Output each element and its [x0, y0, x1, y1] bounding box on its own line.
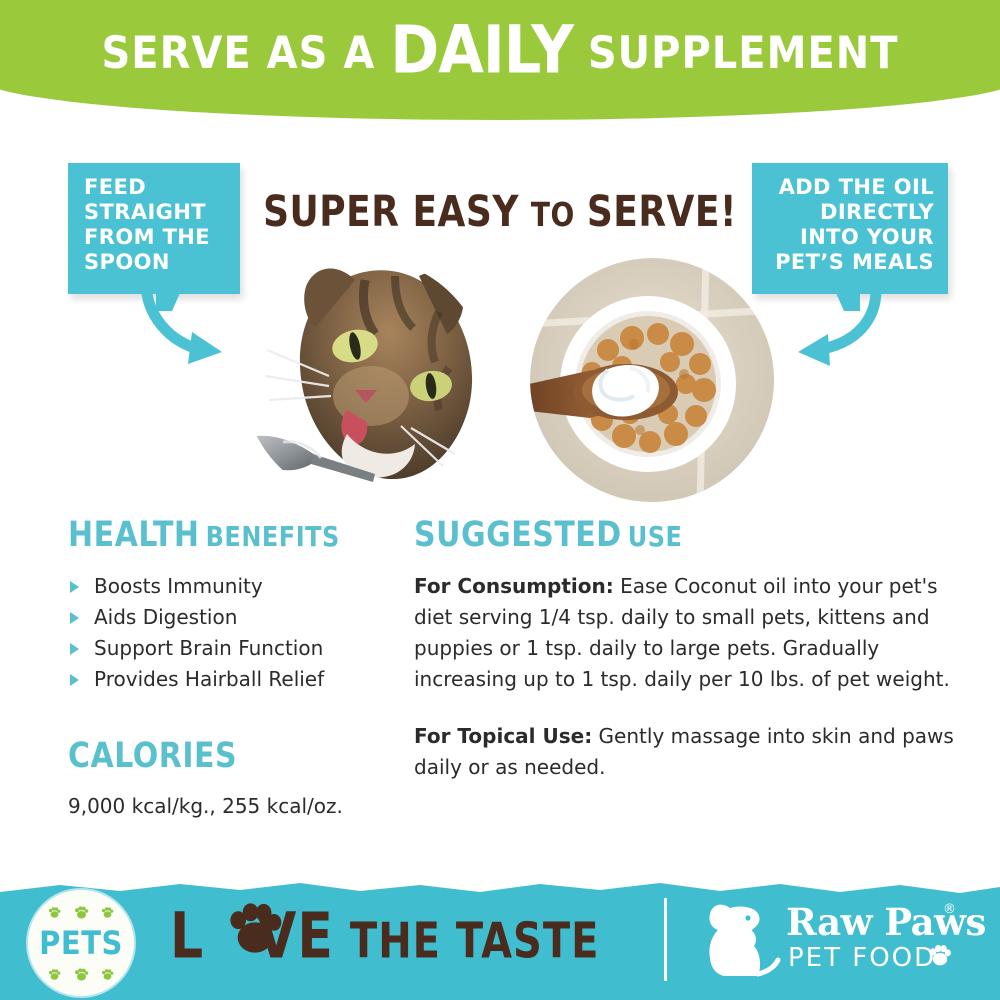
health-heading-big: HEALTH — [68, 515, 200, 555]
callout-right-tail — [836, 293, 860, 311]
love-paw-icon — [227, 900, 283, 956]
suggested-heading-big: SUGGESTED — [414, 515, 622, 555]
title-part1: SERVE AS A — [101, 28, 375, 80]
topical-paragraph: For Topical Use: Gently massage into ski… — [414, 721, 954, 783]
topical-label: For Topical Use: — [414, 724, 592, 748]
list-item: Support Brain Function — [68, 633, 398, 664]
paw-icon — [74, 905, 89, 920]
headline-part3: SERVE! — [587, 188, 737, 236]
benefit-label: Provides Hairball Relief — [94, 667, 324, 691]
bullet-triangle-icon — [70, 581, 79, 593]
badge-paws-top — [28, 904, 134, 922]
headline-part1: SUPER EASY — [263, 188, 519, 236]
suggested-heading-small: USE — [628, 521, 683, 553]
footer-torn-edge — [0, 879, 1000, 895]
consumption-label: For Consumption: — [414, 574, 614, 598]
brand-paw-icon — [928, 943, 952, 967]
list-item: Provides Hairball Relief — [68, 664, 398, 695]
pets-badge: PETS — [28, 890, 134, 996]
arrow-right-icon — [760, 288, 890, 374]
health-benefits-heading: HEALTH BENEFITS — [68, 515, 398, 555]
brand-subtitle: PET FOOD — [788, 943, 936, 973]
paw-icon — [101, 968, 114, 981]
calories-heading: CALORIES — [68, 736, 398, 776]
taste-word: THE TASTE — [350, 913, 600, 969]
photo-food-bowl — [530, 258, 775, 503]
title-part2: SUPPLEMENT — [588, 28, 899, 80]
benefit-label: Boosts Immunity — [94, 574, 263, 598]
photo-cat-with-spoon — [243, 258, 488, 503]
callout-right-line-4: PET’S MEALS — [768, 250, 934, 275]
list-item: Boosts Immunity — [68, 571, 398, 602]
pets-badge-label: PETS — [28, 924, 134, 961]
love-word-l: L — [170, 900, 204, 973]
bullet-triangle-icon — [70, 643, 79, 655]
title-emphasis: DAILY — [390, 11, 573, 88]
bullet-triangle-icon — [70, 674, 79, 686]
consumption-paragraph: For Consumption: Ease Coconut oil into y… — [414, 571, 954, 695]
callout-left-line-4: SPOON — [84, 250, 226, 275]
paw-icon — [101, 906, 114, 919]
calories-value: 9,000 kcal/kg., 255 kcal/oz. — [68, 792, 398, 820]
infographic-page: SERVE AS A DAILY SUPPLEMENT FEED STRAIGH… — [0, 0, 1000, 1000]
calories-heading-text: CALORIES — [68, 736, 237, 776]
brand-registered-mark: ® — [943, 902, 956, 917]
health-benefits-list: Boosts Immunity Aids Digestion Support B… — [68, 571, 398, 695]
page-title: SERVE AS A DAILY SUPPLEMENT — [0, 11, 1000, 88]
calories-section: CALORIES 9,000 kcal/kg., 255 kcal/oz. — [68, 741, 398, 820]
header-banner: SERVE AS A DAILY SUPPLEMENT — [0, 0, 1000, 120]
bowl-illustration — [530, 258, 775, 503]
benefit-label: Support Brain Function — [94, 636, 323, 660]
bullet-triangle-icon — [70, 612, 79, 624]
health-benefits-column: HEALTH BENEFITS Boosts Immunity Aids Dig… — [68, 520, 398, 820]
suggested-use-column: SUGGESTED USE For Consumption: Ease Coco… — [414, 520, 954, 809]
headline-part2: TO — [531, 195, 575, 234]
dog-and-cat-icon — [700, 898, 786, 982]
benefit-label: Aids Digestion — [94, 605, 237, 629]
paw-icon — [74, 967, 89, 982]
rawpaws-logo: Raw Paws ® PET FOOD — [700, 898, 970, 982]
health-heading-small: BENEFITS — [206, 521, 340, 553]
center-headline: SUPER EASY TO SERVE! — [0, 188, 1000, 236]
list-item: Aids Digestion — [68, 602, 398, 633]
footer-divider — [664, 898, 667, 981]
paw-icon — [48, 968, 61, 981]
suggested-use-heading: SUGGESTED USE — [414, 515, 954, 555]
callout-left-tail — [156, 293, 180, 311]
badge-paws-bottom — [28, 966, 134, 984]
cat-illustration — [243, 258, 488, 503]
paw-icon — [48, 906, 61, 919]
